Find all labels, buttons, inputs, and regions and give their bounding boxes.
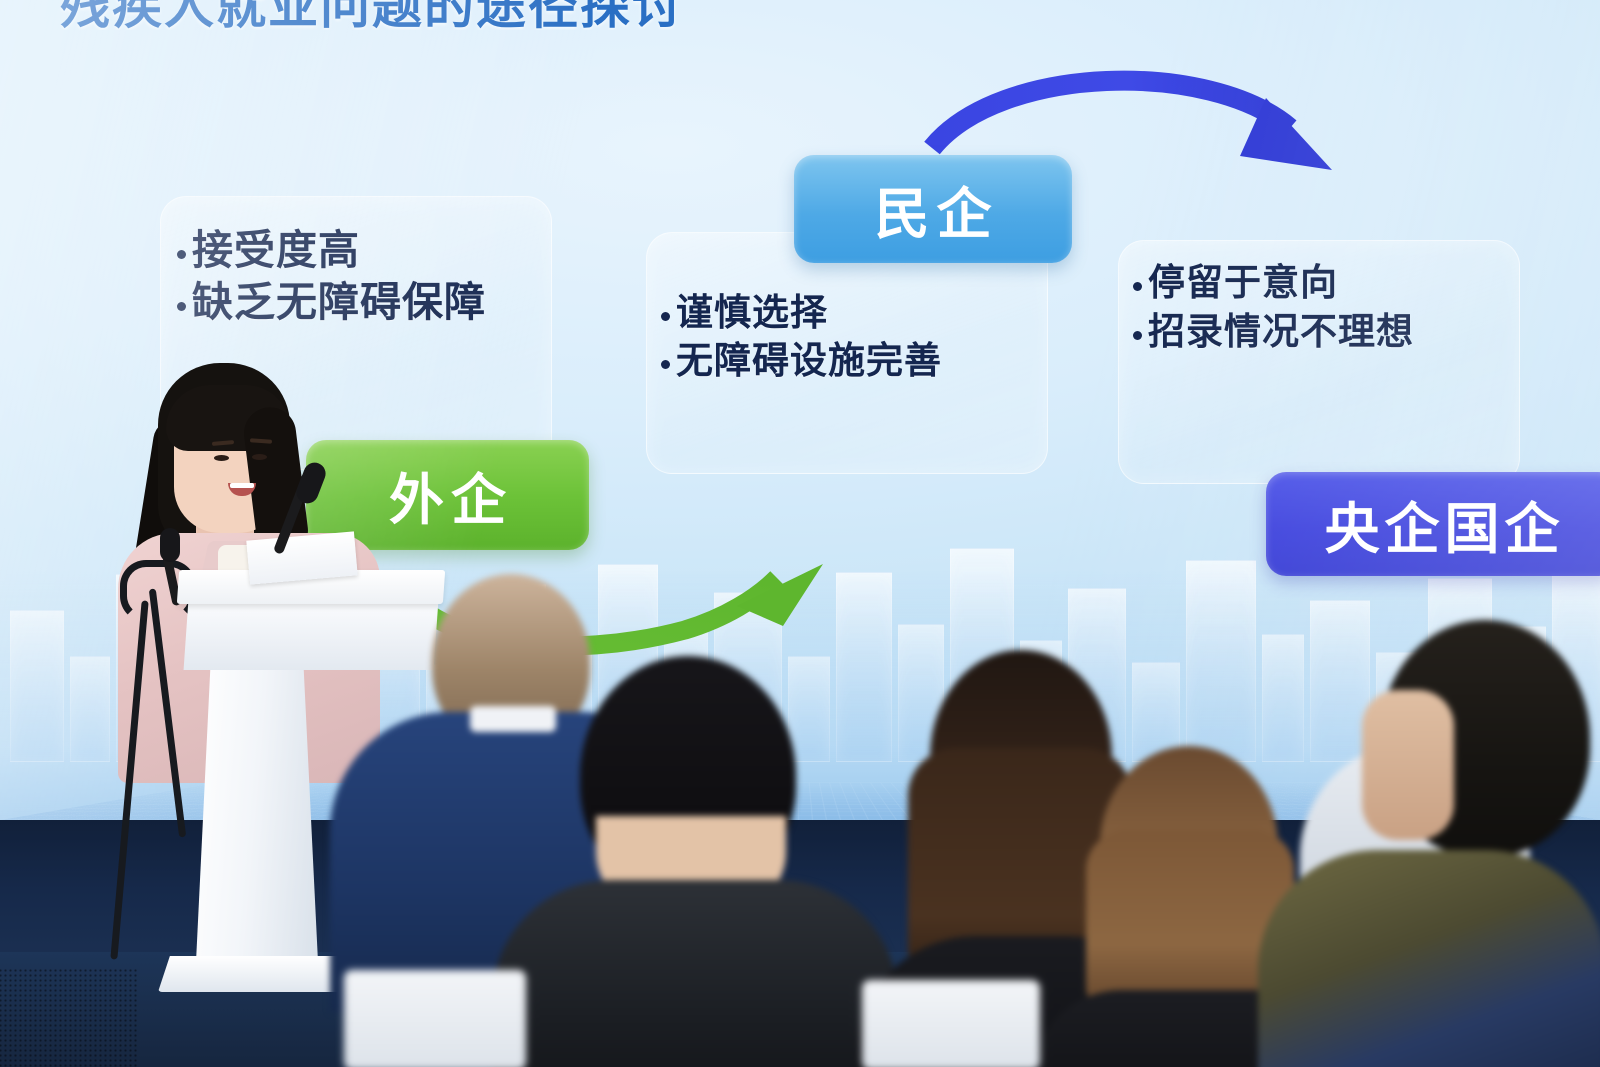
- conference-photo: 残疾人就业问题的途径探讨: [0, 0, 1600, 1067]
- audience-body-2: [492, 880, 898, 1067]
- shirt-collar-1: [470, 706, 556, 732]
- audience: [0, 0, 1600, 1067]
- audience-face-6: [1362, 690, 1454, 840]
- audience-body-6: [1258, 850, 1600, 1067]
- chair-back-2: [862, 980, 1040, 1067]
- chair-back-1: [344, 970, 526, 1067]
